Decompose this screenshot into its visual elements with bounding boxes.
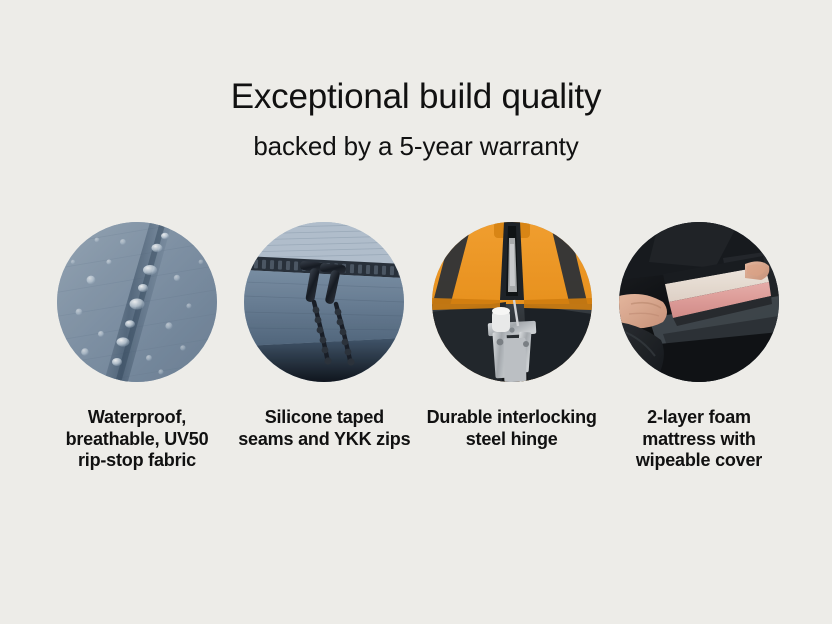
steel-hinge-photo	[432, 222, 592, 382]
feature-graphic: Exceptional build quality backed by a 5-…	[0, 0, 832, 624]
feature-caption: Durable interlocking steel hinge	[424, 407, 599, 450]
feature-list: Waterproof, breathable, UV50 rip-stop fa…	[57, 222, 779, 472]
feature-caption: Silicone taped seams and YKK zips	[237, 407, 412, 450]
feature-caption: Waterproof, breathable, UV50 rip-stop fa…	[50, 407, 225, 472]
page-subtitle: backed by a 5-year warranty	[0, 130, 832, 162]
waterproof-fabric-photo	[57, 222, 217, 382]
feature-item: Waterproof, breathable, UV50 rip-stop fa…	[57, 222, 217, 472]
foam-mattress-photo	[619, 222, 779, 382]
heading-block: Exceptional build quality backed by a 5-…	[0, 76, 832, 162]
feature-item: Durable interlocking steel hinge	[432, 222, 592, 450]
feature-caption: 2-layer foam mattress with wipeable cove…	[611, 407, 786, 472]
feature-item: Silicone taped seams and YKK zips	[244, 222, 404, 450]
ykk-zip-photo	[244, 222, 404, 382]
feature-item: 2-layer foam mattress with wipeable cove…	[619, 222, 779, 472]
page-title: Exceptional build quality	[0, 76, 832, 118]
